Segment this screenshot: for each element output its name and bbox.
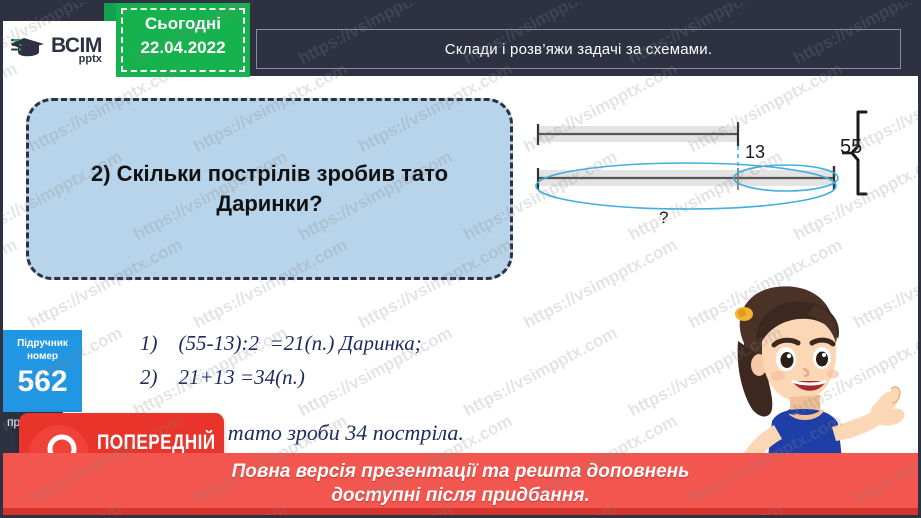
- solution-steps: 1) (55-13):2 =21(п.) Даринка; 2) 21+13 =…: [140, 327, 700, 394]
- scheme-label-55: 55: [840, 136, 862, 159]
- scheme-label-unknown: ?: [659, 208, 668, 228]
- girl-thumbs-up-illustration: [686, 281, 921, 476]
- textbook-number-value: 562: [3, 365, 82, 400]
- slide-title-bar: Склади і розв’яжи задачі за схемами.: [256, 29, 901, 69]
- presentation-slide: ВСІМ pptx Сьогодні 22.04.2022 Склади і р…: [0, 0, 921, 518]
- today-date-badge: Сьогодні 22.04.2022: [116, 3, 250, 77]
- today-label: Сьогодні: [116, 13, 250, 36]
- watermark-text: https://vsimpptx.com: [520, 235, 680, 333]
- today-date-value: 22.04.2022: [116, 36, 250, 61]
- textbook-number-card: Підручник номер 562: [3, 330, 82, 412]
- brand-logo[interactable]: ВСІМ pptx: [3, 21, 119, 78]
- graduation-cap-icon: [11, 32, 47, 67]
- textbook-card-line1: Підручник: [3, 337, 82, 351]
- banner-line-2: доступні після придбання.: [331, 484, 590, 508]
- bar-scheme-diagram: 13 55 ?: [520, 98, 910, 248]
- banner-bottom-strip: [3, 508, 918, 515]
- question-text: 2) Скільки пострілів зробив тато Даринки…: [29, 159, 510, 218]
- solution-step-1: 1) (55-13):2 =21(п.) Даринка;: [140, 327, 700, 361]
- watermark-text: https://vsimpptx.com: [0, 235, 21, 333]
- page-title: Склади і розв’яжи задачі за схемами.: [445, 41, 712, 58]
- textbook-card-line2: номер: [3, 351, 82, 363]
- banner-line-1: Повна версія презентації та решта доповн…: [232, 460, 690, 484]
- question-box: 2) Скільки пострілів зробив тато Даринки…: [26, 98, 513, 280]
- scheme-label-13: 13: [745, 142, 765, 163]
- purchase-notice-banner: Повна версія презентації та решта доповн…: [3, 453, 918, 515]
- preview-badge-line1: ПОПЕРЕДНІЙ: [97, 432, 216, 454]
- solution-step-2: 2) 21+13 =34(п.): [140, 361, 700, 395]
